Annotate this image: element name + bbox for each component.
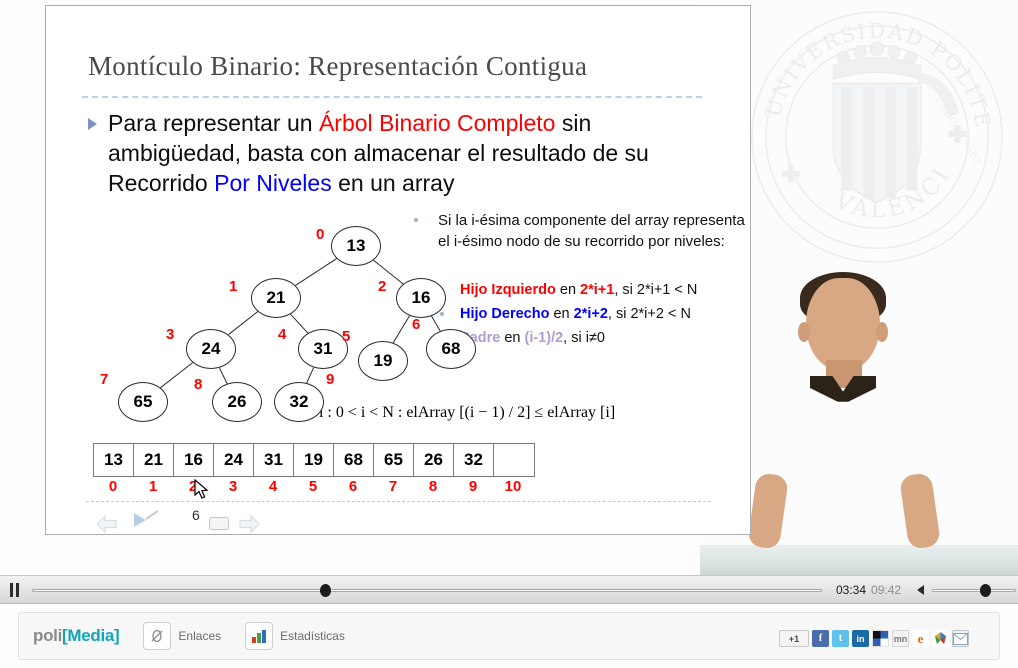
- item-cond-1: , si 2*i+1 < N: [614, 282, 697, 298]
- tree-node-index: 4: [278, 326, 286, 343]
- bullet-text-part3: en un array: [332, 170, 455, 196]
- heap-invariant-formula: ∀ i : 0 < i < N : elArray [(i − 1) / 2] …: [304, 402, 734, 422]
- delicious-icon[interactable]: [872, 630, 889, 647]
- tree-edge: [430, 316, 440, 332]
- tuenti-icon[interactable]: e: [912, 630, 929, 647]
- tree-node-index: 1: [229, 278, 237, 295]
- array-cell: 26: [414, 444, 454, 476]
- volume-slider[interactable]: [932, 583, 1016, 597]
- tree-node: 65: [118, 382, 168, 422]
- array-cell: 24: [214, 444, 254, 476]
- slide-title: Montículo Binario: Representación Contig…: [88, 51, 718, 82]
- current-time: 03:34: [836, 583, 866, 597]
- time-display: 03:3409:42: [836, 583, 901, 597]
- tree-node-index: 3: [166, 326, 174, 343]
- item-formula-1: 2*i+1: [580, 282, 614, 298]
- array-index-labels: 012345678910: [93, 478, 533, 495]
- bullet-highlight-niveles: Por Niveles: [214, 170, 332, 196]
- array-cell: 13: [94, 444, 134, 476]
- array-index: 0: [93, 478, 133, 495]
- array-index: 5: [293, 478, 333, 495]
- forward-arrow-icon[interactable]: [238, 515, 260, 533]
- enlaces-label: Enlaces: [178, 629, 221, 643]
- item-mid-3: en: [500, 330, 524, 346]
- slide-number: 6: [192, 507, 200, 523]
- tree-node: 31: [298, 329, 348, 369]
- array-index: 4: [253, 478, 293, 495]
- array-index: 1: [133, 478, 173, 495]
- tree-node: 16: [396, 278, 446, 318]
- explanation-item-padre: Padre en (i-1)/2, si i≠0: [460, 328, 605, 349]
- tree-node-index: 2: [378, 278, 386, 295]
- tree-node-index: 9: [326, 371, 334, 388]
- mouse-cursor: [194, 479, 210, 501]
- tree-node: 26: [212, 382, 262, 422]
- item-term-1: Hijo Izquierdo: [460, 282, 556, 298]
- tree-edge: [219, 368, 228, 384]
- video-stage: UNIVERSIDAD POLITECNICA VALENCIA PROGRES: [0, 0, 1018, 575]
- google-icon[interactable]: [932, 630, 949, 647]
- array-cell: 19: [294, 444, 334, 476]
- player-control-bar: 03:3409:42: [0, 575, 1018, 604]
- seek-thumb[interactable]: [320, 584, 331, 597]
- tree-edge: [295, 257, 337, 285]
- twitter-icon[interactable]: t: [832, 630, 849, 647]
- item-formula-2: 2*i+2: [574, 306, 608, 322]
- array-cell: [494, 444, 534, 476]
- head: [806, 278, 880, 370]
- bullet-triangle-icon: [88, 118, 97, 130]
- linkedin-icon[interactable]: in: [852, 630, 869, 647]
- volume-thumb[interactable]: [980, 584, 991, 597]
- array-index: 3: [213, 478, 253, 495]
- volume-track: [932, 589, 1016, 592]
- logo-mark: [Media]: [62, 626, 119, 645]
- bar-chart-icon: [245, 622, 273, 650]
- ear-right: [876, 322, 888, 342]
- binary-tree-diagram: 130211162243314195686657268329: [86, 216, 416, 416]
- google-plus-one-icon[interactable]: +1: [779, 630, 809, 647]
- email-icon[interactable]: [952, 630, 969, 647]
- enlaces-button[interactable]: Enlaces: [143, 622, 221, 650]
- array-index: 6: [333, 478, 373, 495]
- pause-button[interactable]: [10, 582, 24, 597]
- array-index: 10: [493, 478, 533, 495]
- item-cond-3: , si i≠0: [563, 330, 605, 346]
- seek-track: [32, 589, 822, 592]
- tree-node: 32: [274, 382, 324, 422]
- polimedia-player: UNIVERSIDAD POLITECNICA VALENCIA PROGRES: [0, 0, 1018, 668]
- array-index: 7: [373, 478, 413, 495]
- facebook-icon[interactable]: f: [812, 630, 829, 647]
- array-representation: 13211624311968652632: [93, 443, 535, 477]
- tree-edge: [228, 311, 258, 335]
- back-arrow-icon[interactable]: [96, 515, 118, 533]
- tree-node: 24: [186, 329, 236, 369]
- estadisticas-button[interactable]: Estadísticas: [245, 622, 345, 650]
- presenter-figure: [748, 278, 938, 553]
- tree-node-index: 0: [316, 226, 324, 243]
- social-share-bar: +1ftinmne: [779, 630, 969, 647]
- sub-bullet-dot-icon-2: [440, 312, 444, 316]
- tree-node: 21: [251, 278, 301, 318]
- item-term-2: Hijo Derecho: [460, 306, 549, 322]
- bullet-text-part1: Para representar un: [108, 110, 319, 136]
- page-box-icon[interactable]: [209, 517, 229, 530]
- striped-polo-shirt: [756, 380, 930, 555]
- tree-edge: [290, 314, 308, 334]
- item-mid-1: en: [556, 282, 580, 298]
- array-cell: 16: [174, 444, 214, 476]
- link-icon: [143, 622, 171, 650]
- explanation-intro: Si la i-ésima componente del array repre…: [438, 210, 758, 252]
- array-cell: 32: [454, 444, 494, 476]
- tree-node-index: 8: [194, 376, 202, 393]
- speaker-icon[interactable]: [917, 585, 924, 595]
- bottom-toolbar: poli[Media] Enlaces: [0, 604, 1018, 668]
- array-cell: 68: [334, 444, 374, 476]
- estadisticas-label: Estadísticas: [280, 629, 345, 643]
- tree-edge: [306, 367, 314, 383]
- tree-node-index: 5: [342, 328, 350, 345]
- array-index: 9: [453, 478, 493, 495]
- slide-navigation: 6: [96, 509, 296, 537]
- item-formula-3: (i-1)/2: [525, 330, 564, 346]
- slide-canvas: Montículo Binario: Representación Contig…: [45, 5, 751, 535]
- title-divider: [82, 96, 702, 98]
- tree-node: 13: [331, 226, 381, 266]
- tree-node: 68: [426, 329, 476, 369]
- tree-node-index: 6: [412, 316, 420, 333]
- item-cond-2: , si 2*i+2 < N: [608, 306, 691, 322]
- play-pen-icon[interactable]: [130, 509, 164, 537]
- tree-edge: [393, 315, 410, 343]
- meneame-icon[interactable]: mn: [892, 630, 909, 647]
- array-cell: 21: [134, 444, 174, 476]
- array-cell: 65: [374, 444, 414, 476]
- array-index: 8: [413, 478, 453, 495]
- toolbar-panel: poli[Media] Enlaces: [18, 612, 1000, 660]
- tree-edge: [160, 362, 193, 388]
- explanation-item-hijo-derecho: Hijo Derecho en 2*i+2, si 2*i+2 < N: [460, 304, 691, 325]
- ear-left: [798, 322, 810, 342]
- explanation-item-hijo-izquierdo: Hijo Izquierdo en 2*i+1, si 2*i+1 < N: [460, 280, 697, 301]
- total-time: 09:42: [871, 583, 901, 597]
- item-mid-2: en: [549, 306, 573, 322]
- nav-divider: [86, 501, 711, 502]
- bullet-highlight-arbol: Árbol Binario Completo: [319, 110, 556, 136]
- slide-main-bullet: Para representar un Árbol Binario Comple…: [108, 108, 708, 198]
- tree-node: 19: [358, 341, 408, 381]
- polimedia-logo: poli[Media]: [33, 626, 119, 646]
- seek-slider[interactable]: [32, 583, 822, 597]
- logo-prefix: poli: [33, 626, 62, 645]
- array-cell: 31: [254, 444, 294, 476]
- tree-node-index: 7: [100, 371, 108, 388]
